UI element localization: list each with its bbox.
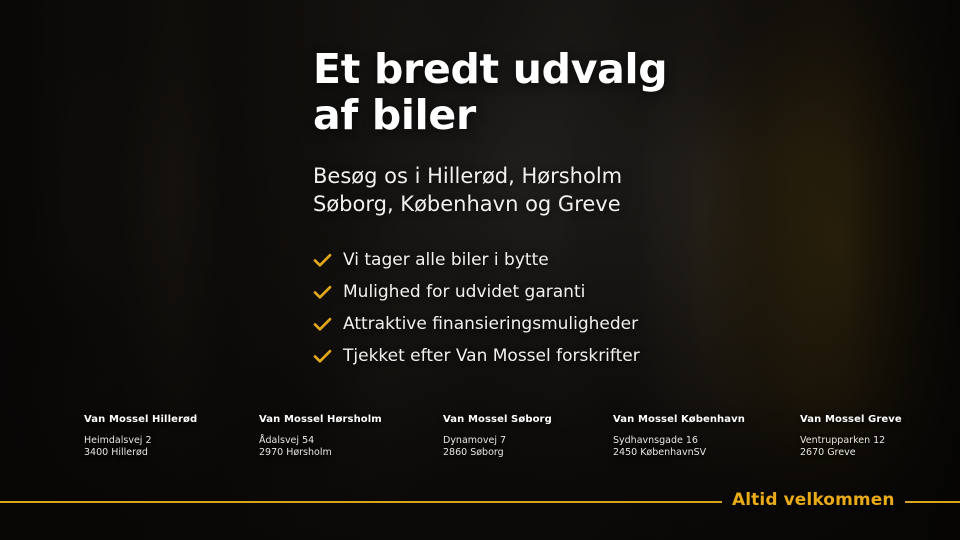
feature-label: Attraktive finansieringsmuligheder [343, 313, 638, 335]
check-icon [313, 253, 343, 268]
location-address: Ventrupparken 12 2670 Greve [800, 435, 902, 459]
hero-subheadline: Besøg os i Hillerød, Hørsholm Søborg, Kø… [313, 162, 933, 218]
location-card[interactable]: Van Mossel København Sydhavnsgade 16 245… [613, 414, 745, 459]
location-card[interactable]: Van Mossel Søborg Dynamovej 7 2860 Søbor… [443, 414, 552, 459]
check-icon [313, 285, 343, 300]
footer-rule-left [0, 501, 722, 503]
location-card[interactable]: Van Mossel Hørsholm Ådalsvej 54 2970 Hør… [259, 414, 382, 459]
promo-banner: Et bredt udvalg af biler Besøg os i Hill… [0, 0, 960, 540]
list-item: Vi tager alle biler i bytte [313, 245, 933, 275]
page-title: Et bredt udvalg af biler [313, 46, 933, 138]
location-card[interactable]: Van Mossel Hillerød Heimdalsvej 2 3400 H… [84, 414, 197, 459]
footer-tagline: Altid velkommen [732, 490, 895, 510]
location-name: Van Mossel Søborg [443, 414, 552, 425]
location-card[interactable]: Van Mossel Greve Ventrupparken 12 2670 G… [800, 414, 902, 459]
location-name: Van Mossel Hørsholm [259, 414, 382, 425]
location-address: Sydhavnsgade 16 2450 KøbenhavnSV [613, 435, 745, 459]
dealership-locations: Van Mossel Hillerød Heimdalsvej 2 3400 H… [0, 414, 960, 472]
feature-label: Mulighed for udvidet garanti [343, 281, 585, 303]
location-name: Van Mossel København [613, 414, 745, 425]
feature-label: Vi tager alle biler i bytte [343, 249, 549, 271]
feature-label: Tjekket efter Van Mossel forskrifter [343, 345, 640, 367]
check-icon [313, 317, 343, 332]
list-item: Tjekket efter Van Mossel forskrifter [313, 341, 933, 371]
location-name: Van Mossel Hillerød [84, 414, 197, 425]
feature-list: Vi tager alle biler i bytte Mulighed for… [313, 245, 933, 371]
list-item: Attraktive finansieringsmuligheder [313, 309, 933, 339]
location-name: Van Mossel Greve [800, 414, 902, 425]
check-icon [313, 349, 343, 364]
hero-content: Et bredt udvalg af biler Besøg os i Hill… [313, 46, 933, 371]
location-address: Dynamovej 7 2860 Søborg [443, 435, 552, 459]
footer-rule-right [905, 501, 960, 503]
location-address: Heimdalsvej 2 3400 Hillerød [84, 435, 197, 459]
list-item: Mulighed for udvidet garanti [313, 277, 933, 307]
location-address: Ådalsvej 54 2970 Hørsholm [259, 435, 382, 459]
